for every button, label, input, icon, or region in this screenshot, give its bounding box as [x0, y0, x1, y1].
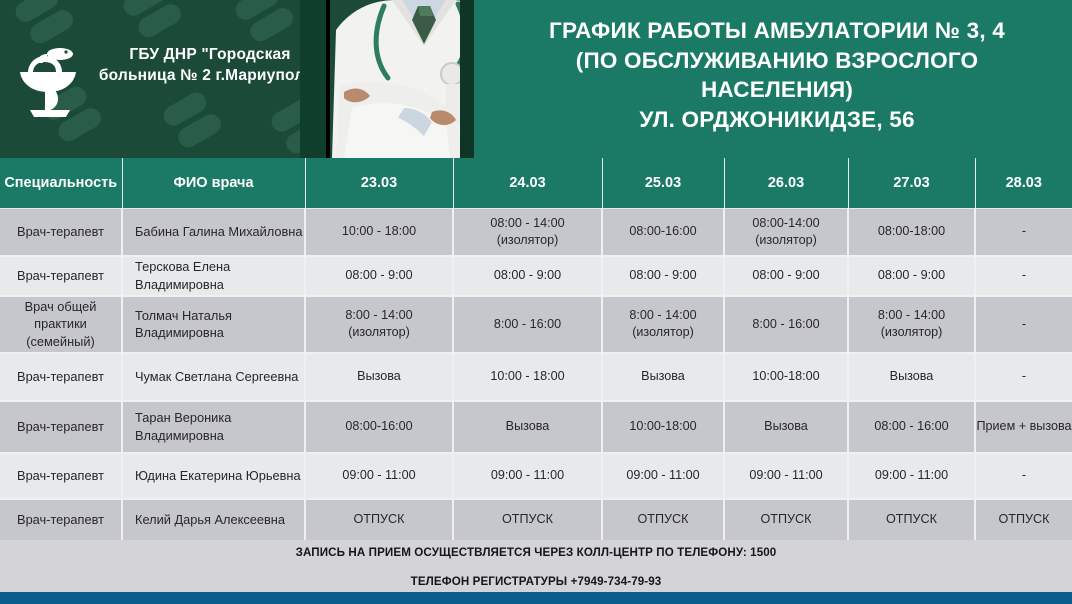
poster-header: ГБУ ДНР "Городская больница № 2 г.Мариуп… [0, 0, 1072, 158]
cell-schedule-day-3: 8:00 - 14:00(изолятор) [602, 296, 724, 353]
cell-schedule-day-5: 8:00 - 14:00(изолятор) [848, 296, 975, 353]
cell-schedule-day-1: ОТПУСК [305, 499, 453, 541]
title-line-2: (ПО ОБСЛУЖИВАНИЮ ВЗРОСЛОГО [502, 46, 1052, 76]
cell-schedule-day-2: 8:00 - 16:00 [453, 296, 602, 353]
cell-specialty: Врач-терапевт [0, 353, 122, 401]
column-header-doctor-name: ФИО врача [122, 158, 305, 209]
cell-schedule-day-3: ОТПУСК [602, 499, 724, 541]
table-row: Врач-терапевтТаран Вероника Владимировна… [0, 401, 1072, 453]
cell-doctor-name: Бабина Галина Михайловна [122, 209, 305, 256]
footer-registry-phone: ТЕЛЕФОН РЕГИСТРАТУРЫ +7949-734-79-93 [0, 559, 1072, 588]
title-line-1: ГРАФИК РАБОТЫ АМБУЛАТОРИИ № 3, 4 [502, 16, 1052, 46]
footer-callcenter-text: ЗАПИСЬ НА ПРИЕМ ОСУЩЕСТВЛЯЕТСЯ ЧЕРЕЗ КОЛ… [0, 540, 1072, 559]
column-header-date-26-03: 26.03 [724, 158, 848, 209]
cell-schedule-day-6: - [975, 209, 1072, 256]
cell-schedule-day-6: Прием + вызова [975, 401, 1072, 453]
header-divider [460, 0, 474, 158]
cell-specialty: Врач-терапевт [0, 256, 122, 296]
cell-schedule-day-3: 08:00-16:00 [602, 209, 724, 256]
cell-schedule-day-4: Вызова [724, 401, 848, 453]
cell-doctor-name: Таран Вероника Владимировна [122, 401, 305, 453]
column-header-date-27-03: 27.03 [848, 158, 975, 209]
cell-schedule-day-2: 10:00 - 18:00 [453, 353, 602, 401]
cell-schedule-day-6: - [975, 353, 1072, 401]
header-right-panel: ГРАФИК РАБОТЫ АМБУЛАТОРИИ № 3, 4 (ПО ОБС… [474, 0, 1072, 158]
cell-schedule-day-2: 08:00 - 9:00 [453, 256, 602, 296]
poster-footer: ЗАПИСЬ НА ПРИЕМ ОСУЩЕСТВЛЯЕТСЯ ЧЕРЕЗ КОЛ… [0, 540, 1072, 592]
bowl-of-hygieia-icon [14, 42, 86, 120]
cell-doctor-name: Толмач Наталья Владимировна [122, 296, 305, 353]
schedule-table: Специальность ФИО врача 23.03 24.03 25.0… [0, 158, 1072, 542]
cell-specialty: Врач-терапевт [0, 401, 122, 453]
cell-schedule-day-5: Вызова [848, 353, 975, 401]
table-row: Врач-терапевтКелий Дарья АлексеевнаОТПУС… [0, 499, 1072, 541]
cell-schedule-day-1: 09:00 - 11:00 [305, 453, 453, 499]
cell-schedule-day-1: 08:00-16:00 [305, 401, 453, 453]
cell-specialty: Врач-терапевт [0, 453, 122, 499]
cell-schedule-day-2: ОТПУСК [453, 499, 602, 541]
cell-doctor-name: Чумак Светлана Сергеевна [122, 353, 305, 401]
table-header-row: Специальность ФИО врача 23.03 24.03 25.0… [0, 158, 1072, 209]
organization-name: ГБУ ДНР "Городская больница № 2 г.Мариуп… [95, 44, 325, 87]
cell-schedule-day-2: Вызова [453, 401, 602, 453]
table-row: Врач-терапевтЮдина Екатерина Юрьевна09:0… [0, 453, 1072, 499]
title-line-4: УЛ. ОРДЖОНИКИДЗЕ, 56 [502, 105, 1052, 135]
cell-schedule-day-4: 10:00-18:00 [724, 353, 848, 401]
cell-schedule-day-1: Вызова [305, 353, 453, 401]
cell-schedule-day-5: 08:00 - 16:00 [848, 401, 975, 453]
cell-schedule-day-3: 10:00-18:00 [602, 401, 724, 453]
cell-schedule-day-6: - [975, 296, 1072, 353]
cell-schedule-day-4: 8:00 - 16:00 [724, 296, 848, 353]
cell-specialty: Врач-терапевт [0, 209, 122, 256]
table-row: Врач-терапевтЧумак Светлана СергеевнаВыз… [0, 353, 1072, 401]
table-row: Врач-терапевтБабина Галина Михайловна10:… [0, 209, 1072, 256]
cell-schedule-day-2: 08:00 - 14:00(изолятор) [453, 209, 602, 256]
cell-schedule-day-6: - [975, 453, 1072, 499]
title-line-3: НАСЕЛЕНИЯ) [502, 75, 1052, 105]
header-left-panel: ГБУ ДНР "Городская больница № 2 г.Мариуп… [0, 0, 330, 158]
cell-schedule-day-4: 08:00-14:00(изолятор) [724, 209, 848, 256]
cell-schedule-day-4: 09:00 - 11:00 [724, 453, 848, 499]
table-body: Врач-терапевтБабина Галина Михайловна10:… [0, 209, 1072, 541]
cell-schedule-day-5: ОТПУСК [848, 499, 975, 541]
cell-schedule-day-3: 09:00 - 11:00 [602, 453, 724, 499]
cell-schedule-day-6: - [975, 256, 1072, 296]
cell-schedule-day-5: 09:00 - 11:00 [848, 453, 975, 499]
cell-schedule-day-6: ОТПУСК [975, 499, 1072, 541]
bottom-accent-bar [0, 592, 1072, 604]
cell-doctor-name: Юдина Екатерина Юрьевна [122, 453, 305, 499]
cell-schedule-day-4: ОТПУСК [724, 499, 848, 541]
poster-title: ГРАФИК РАБОТЫ АМБУЛАТОРИИ № 3, 4 (ПО ОБС… [502, 16, 1052, 135]
cell-schedule-day-3: Вызова [602, 353, 724, 401]
cell-doctor-name: Терскова Елена Владимировна [122, 256, 305, 296]
cell-schedule-day-1: 8:00 - 14:00(изолятор) [305, 296, 453, 353]
column-header-date-25-03: 25.03 [602, 158, 724, 209]
cell-schedule-day-5: 08:00 - 9:00 [848, 256, 975, 296]
cell-schedule-day-3: 08:00 - 9:00 [602, 256, 724, 296]
column-header-specialty: Специальность [0, 158, 122, 209]
cell-schedule-day-2: 09:00 - 11:00 [453, 453, 602, 499]
cell-schedule-day-1: 08:00 - 9:00 [305, 256, 453, 296]
column-header-date-23-03: 23.03 [305, 158, 453, 209]
column-header-date-28-03: 28.03 [975, 158, 1072, 209]
cell-schedule-day-1: 10:00 - 18:00 [305, 209, 453, 256]
cell-schedule-day-5: 08:00-18:00 [848, 209, 975, 256]
table-row: Врач общей практики (семейный)Толмач Нат… [0, 296, 1072, 353]
cell-schedule-day-4: 08:00 - 9:00 [724, 256, 848, 296]
cell-specialty: Врач-терапевт [0, 499, 122, 541]
cell-doctor-name: Келий Дарья Алексеевна [122, 499, 305, 541]
schedule-poster: ГБУ ДНР "Городская больница № 2 г.Мариуп… [0, 0, 1072, 604]
cell-specialty: Врач общей практики (семейный) [0, 296, 122, 353]
table-row: Врач-терапевтТерскова Елена Владимировна… [0, 256, 1072, 296]
column-header-date-24-03: 24.03 [453, 158, 602, 209]
